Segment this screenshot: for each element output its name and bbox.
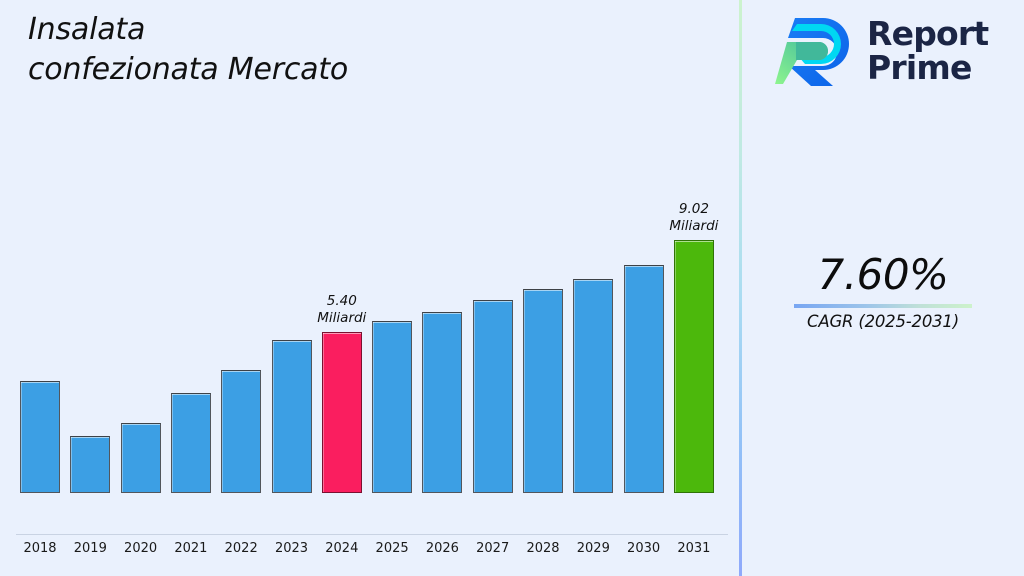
bar-2030 xyxy=(624,265,664,493)
cagr-value: 7.60% xyxy=(742,250,1024,299)
cagr-block: 7.60% CAGR (2025-2031) xyxy=(742,250,1024,331)
bar-rect-2028 xyxy=(523,289,563,493)
brand-panel: Report Prime 7.60% CAGR (2025-2031) xyxy=(742,0,1024,576)
bar-2029 xyxy=(573,279,613,493)
bar-value-label-2031: 9.02 Miliardi xyxy=(648,201,740,234)
x-tick-2031: 2031 xyxy=(662,541,726,556)
cagr-caption: CAGR (2025-2031) xyxy=(742,312,1024,331)
bar-rect-2029 xyxy=(573,279,613,493)
chart-panel: Insalata confezionata Mercato 5.40 Milia… xyxy=(0,0,739,576)
bar-2026 xyxy=(422,312,462,493)
bar-rect-2026 xyxy=(422,312,462,493)
bar-2021 xyxy=(171,393,211,493)
bar-rect-2023 xyxy=(272,340,312,493)
bar-rect-2027 xyxy=(473,300,513,493)
bar-rect-2018 xyxy=(20,381,60,493)
bar-rect-2019 xyxy=(70,436,110,493)
bar-2025 xyxy=(372,321,412,493)
bar-rect-2020 xyxy=(121,423,161,493)
plot-area: 5.40 Miliardi9.02 Miliardi xyxy=(0,0,739,535)
bar-rect-2024 xyxy=(322,332,362,493)
bar-2027 xyxy=(473,300,513,493)
bar-2018 xyxy=(20,381,60,493)
bar-2022 xyxy=(221,370,261,493)
bar-2028 xyxy=(523,289,563,493)
bar-2019 xyxy=(70,436,110,493)
bar-2031: 9.02 Miliardi xyxy=(674,240,714,493)
bar-rect-2025 xyxy=(372,321,412,493)
logo-wordmark: Report Prime xyxy=(867,17,988,84)
bar-2024: 5.40 Miliardi xyxy=(322,332,362,493)
report-prime-logo: Report Prime xyxy=(775,12,988,90)
bar-rect-2021 xyxy=(171,393,211,493)
x-axis-line xyxy=(16,534,728,535)
bar-2020 xyxy=(121,423,161,493)
report-prime-r-mark xyxy=(775,12,855,90)
cagr-divider-rule xyxy=(794,304,972,308)
bar-2023 xyxy=(272,340,312,493)
bar-rect-2022 xyxy=(221,370,261,493)
bar-rect-2030 xyxy=(624,265,664,493)
bar-rect-2031 xyxy=(674,240,714,493)
